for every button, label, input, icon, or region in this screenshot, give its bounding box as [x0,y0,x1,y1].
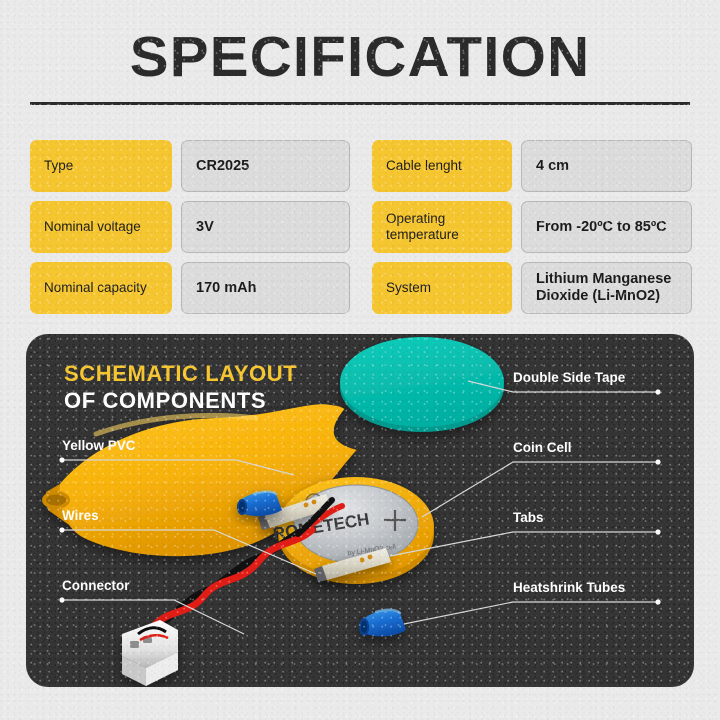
spec-label: Nominal capacity [30,262,172,314]
spec-label: Nominal voltage [30,201,172,253]
callout-label-yellow-pvc: Yellow PVC [62,438,136,454]
callout-label-double-side-tape: Double Side Tape [513,370,625,386]
schematic-panel: ROMETECH UL by Li-MnO2 cell [26,334,694,687]
page-title: SPECIFICATION [0,26,720,88]
spec-label: System [372,262,512,314]
panel-heading-line1: SCHEMATIC LAYOUT [64,360,297,387]
spec-value: Lithium Manganese Dioxide (Li-MnO2) [521,262,692,314]
specification-table: Type CR2025 Nominal voltage 3V Nominal c… [30,140,692,314]
title-divider [30,102,690,105]
callout-label-wires: Wires [62,508,99,524]
panel-heading-line2: OF COMPONENTS [64,387,297,414]
callout-label-connector: Connector [62,578,130,594]
callout-label-coin-cell: Coin Cell [513,440,572,456]
spec-column-left: Type CR2025 Nominal voltage 3V Nominal c… [30,140,350,314]
table-row: Operating temperature From -20ºC to 85ºC [372,201,692,253]
spec-value: 4 cm [521,140,692,192]
spec-label: Type [30,140,172,192]
table-row: Type CR2025 [30,140,350,192]
spec-label: Operating temperature [372,201,512,253]
callout-label-heatshrink-tubes: Heatshrink Tubes [513,580,625,596]
spec-value: 170 mAh [181,262,350,314]
table-row: Cable lenght 4 cm [372,140,692,192]
callout-label-tabs: Tabs [513,510,544,526]
spec-label: Cable lenght [372,140,512,192]
spec-column-right: Cable lenght 4 cm Operating temperature … [372,140,692,314]
spec-value: 3V [181,201,350,253]
panel-heading: SCHEMATIC LAYOUT OF COMPONENTS [64,360,297,414]
spec-value: CR2025 [181,140,350,192]
table-row: Nominal voltage 3V [30,201,350,253]
table-row: Nominal capacity 170 mAh [30,262,350,314]
table-row: System Lithium Manganese Dioxide (Li-MnO… [372,262,692,314]
spec-value: From -20ºC to 85ºC [521,201,692,253]
